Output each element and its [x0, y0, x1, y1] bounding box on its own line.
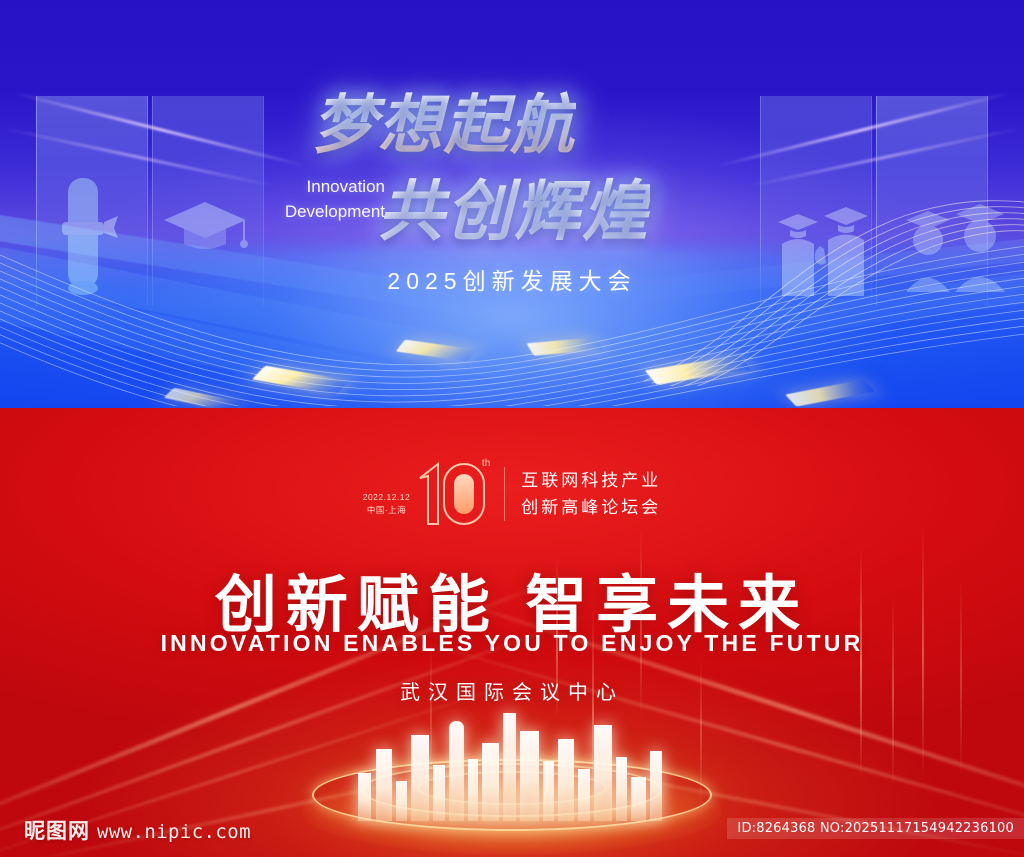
logo-date: 2022.12.12 [363, 491, 411, 504]
blue-english-line2: Development [265, 199, 385, 224]
watermark-site-name: 昵图网 [24, 815, 90, 845]
red-english-subtitle: INNOVATION ENABLES YOU TO ENJOY THE FUTU… [0, 630, 1024, 657]
logo-location: 中国·上海 [363, 504, 411, 517]
poster-stage: 梦想起航 共创辉煌 Innovation Development 2025创新发… [0, 0, 1024, 857]
logo-org-line2: 创新高峰论坛会 [521, 494, 661, 521]
city-skyline-icon [352, 691, 672, 821]
asset-id-label: ID:8264368 NO:20251117154942236100 [727, 818, 1024, 839]
blue-english-line1: Innovation [265, 174, 385, 199]
red-banner: 2022.12.12 中国·上海 [0, 408, 1024, 857]
watermark-nipic: 昵图网 www.nipic.com [24, 815, 251, 845]
blue-title-line1: 梦想起航 [312, 74, 576, 166]
blue-english-subtitle: Innovation Development [265, 174, 385, 224]
summit-logo-block: 2022.12.12 中国·上海 [0, 460, 1024, 528]
logo-superscript: th [482, 458, 490, 469]
logo-date-location: 2022.12.12 中国·上海 [363, 471, 411, 517]
logo-org-line1: 互联网科技产业 [521, 467, 661, 494]
logo-number-10-icon: th [414, 460, 488, 528]
blue-subtitle: 2025创新发展大会 [0, 262, 1024, 296]
blue-title-line2: 共创辉煌 [378, 158, 650, 254]
logo-divider [504, 467, 505, 521]
blue-banner: 梦想起航 共创辉煌 Innovation Development 2025创新发… [0, 0, 1024, 408]
watermark-url: www.nipic.com [97, 821, 251, 843]
logo-org-text: 互联网科技产业 创新高峰论坛会 [521, 467, 661, 521]
